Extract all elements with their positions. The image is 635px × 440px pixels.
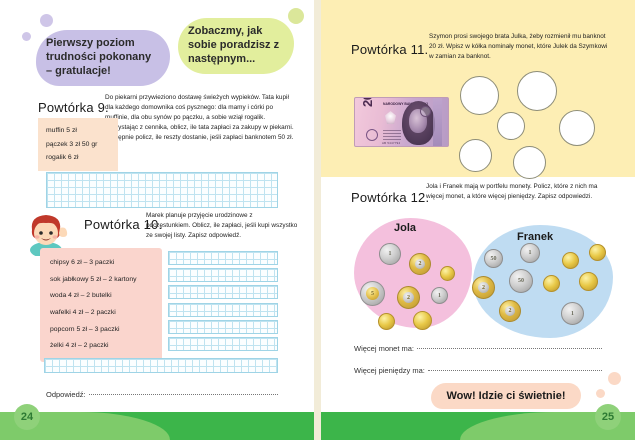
coin-value: 2 [398, 287, 419, 308]
page-number-right: 25 [595, 404, 621, 430]
decorative-dot-green-large [288, 8, 304, 24]
worksheet-spread: Pierwszy poziom trudności pokonany – gra… [0, 0, 635, 440]
coin-jola [440, 266, 455, 281]
task-text-powtorka-11: Szymon prosi swojego brata Julka, żeby r… [429, 32, 609, 62]
coin-franek: 2 [499, 300, 521, 322]
coin-value: 2 [500, 301, 520, 321]
coin-franek [589, 244, 606, 261]
answer-dotted-line[interactable] [89, 394, 278, 395]
coin-answer-circle[interactable] [459, 139, 492, 172]
speech-bubble-congrats: Pierwszy poziom trudności pokonany – gra… [36, 30, 170, 86]
speech-bubble-wow: Wow! Idzie ci świetnie! [431, 383, 581, 409]
task-heading-powtorka-11: Powtórka 11. [351, 42, 428, 57]
banknote-watermark-circle [366, 129, 378, 141]
task-heading-powtorka-9: Powtórka 9. [38, 100, 109, 115]
shopping-list-item: chipsy 6 zł – 3 paczki [50, 255, 152, 272]
coin-answer-circle[interactable] [497, 112, 525, 140]
left-footer-bar [0, 412, 314, 440]
answer-label: Odpowiedź: [46, 390, 86, 399]
coin-value: 5 [361, 282, 384, 305]
decorative-dot-purple-large [40, 14, 53, 27]
decorative-dot-peach-small [596, 389, 605, 398]
coin-jola: 5 [360, 281, 385, 306]
task-text-powtorka-10: Marek planuje przyjęcie urodzinowe z poc… [146, 211, 298, 241]
coin-franek: 1 [520, 243, 540, 263]
coin-answer-circle[interactable] [517, 71, 557, 111]
book-spine [314, 0, 321, 440]
banknote-eagle-icon [385, 111, 396, 124]
answer-grid-row[interactable] [168, 303, 278, 317]
coin-franek: 1 [561, 302, 584, 325]
coin-jola [378, 313, 395, 330]
answer-dotted-line[interactable] [428, 370, 602, 371]
coin-jola: 2 [409, 253, 431, 275]
coin-value: 50 [510, 270, 532, 292]
answer-line-powtorka-10[interactable]: Odpowiedź: [46, 390, 278, 399]
coin-jola: 1 [379, 243, 401, 265]
answer-label: Więcej pieniędzy ma: [354, 366, 425, 375]
shopping-list-item: popcorn 5 zł – 3 paczki [50, 322, 152, 339]
answer-grid-row[interactable] [168, 268, 278, 282]
coin-jola: 1 [431, 287, 448, 304]
coin-franek: 50 [484, 249, 503, 268]
task-text-powtorka-12: Jola i Franek mają w portfelu monety. Po… [426, 182, 611, 202]
coin-jola [413, 311, 432, 330]
coin-value: 1 [562, 303, 583, 324]
coin-answer-circle[interactable] [559, 110, 595, 146]
pricelist-box-powtorka-9: muffin 5 zł pączek 3 zł 50 gr rogalik 6 … [38, 118, 118, 171]
coin-jola: 2 [397, 286, 420, 309]
left-page: Pierwszy poziom trudności pokonany – gra… [0, 0, 314, 440]
banknote-serial: AB 5447794 [382, 141, 400, 145]
speech-bubble-next: Zobaczmy, jak sobie poradzisz z następny… [178, 18, 294, 74]
shopping-list-powtorka-10: chipsy 6 zł – 3 paczki sok jabłkowy 5 zł… [40, 248, 162, 362]
coin-answer-circle[interactable] [513, 146, 546, 179]
shopping-list-item: woda 4 zł – 2 butelki [50, 288, 152, 305]
right-footer-bar [321, 412, 635, 440]
answer-dotted-line[interactable] [417, 348, 602, 349]
coin-franek [562, 252, 579, 269]
banknote-seal-icon [420, 106, 431, 117]
banknote-20-zl: 20 NARODOWY BANK POLSKI AB 5447794 [354, 97, 449, 147]
coin-value: 2 [473, 277, 494, 298]
banknote-security-strip [433, 98, 442, 147]
pricelist-item: muffin 5 zł [46, 124, 110, 138]
answer-grid-row[interactable] [168, 337, 278, 351]
page-number-left: 24 [14, 404, 40, 430]
answer-grid-row[interactable] [168, 285, 278, 299]
coin-franek: 2 [472, 276, 495, 299]
purse-label-jola: Jola [394, 222, 416, 234]
decorative-dot-purple-small [22, 32, 31, 41]
answer-line-more-coins[interactable]: Więcej monet ma: [354, 344, 602, 353]
answer-line-more-money[interactable]: Więcej pieniędzy ma: [354, 366, 602, 375]
answer-grid-powtorka-10-total[interactable] [44, 358, 278, 373]
shopping-list-item: wafelki 4 zł – 2 paczki [50, 305, 152, 322]
right-page: Powtórka 11. Szymon prosi swojego brata … [321, 0, 635, 440]
answer-grid-row[interactable] [168, 320, 278, 334]
pricelist-item: rogalik 6 zł [46, 151, 110, 165]
answer-grid-powtorka-9[interactable] [46, 172, 278, 208]
shopping-list-item: sok jabłkowy 5 zł – 2 kartony [50, 272, 152, 289]
coin-franek [543, 275, 560, 292]
coin-value: 1 [521, 244, 539, 262]
coin-value: 2 [410, 254, 430, 274]
coin-value: 1 [380, 244, 400, 264]
task-text-powtorka-9: Do piekarni przywieziono dostawę świeżyc… [105, 93, 297, 143]
task-heading-powtorka-12: Powtórka 12. [351, 190, 429, 205]
coin-franek: 50 [509, 269, 533, 293]
coin-value: 50 [485, 250, 502, 267]
coin-franek [579, 272, 598, 291]
purse-label-franek: Franek [517, 231, 553, 243]
answer-grid-row[interactable] [168, 251, 278, 265]
coin-value: 1 [432, 288, 447, 303]
answer-label: Więcej monet ma: [354, 344, 414, 353]
coin-answer-circle[interactable] [460, 76, 499, 115]
shopping-list-item: żelki 4 zł – 2 paczki [50, 338, 152, 355]
banknote-value-vertical: 20 [360, 97, 375, 107]
banknote-text-lines [383, 130, 401, 141]
decorative-dot-peach-large [608, 372, 621, 385]
pricelist-item: pączek 3 zł 50 gr [46, 138, 110, 152]
